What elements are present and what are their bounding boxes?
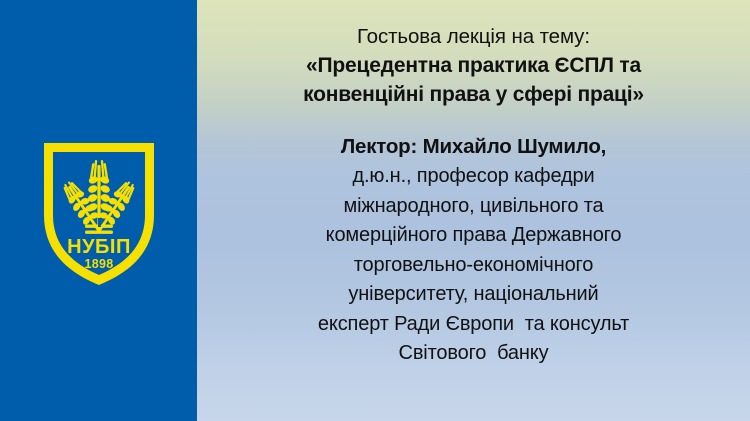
lecture-title-line-2: «Прецедентна практика ЄСПЛ та bbox=[221, 51, 726, 80]
lecturer-description-line: Світового банку bbox=[221, 339, 726, 369]
left-brand-panel: НУБІП 1898 bbox=[0, 0, 197, 421]
nubip-shield-svg: НУБІП 1898 bbox=[44, 143, 154, 285]
lecturer-description-line: університету, національний bbox=[221, 280, 726, 310]
lecturer-description-line: д.ю.н., професор кафедри bbox=[221, 162, 726, 192]
lecturer-description-line: торговельно-економічного bbox=[221, 251, 726, 281]
lecture-title-line-1: Гостьова лекція на тему: bbox=[221, 22, 726, 51]
lecturer-block: Лектор: Михайло Шумило, д.ю.н., професор… bbox=[221, 132, 726, 369]
lecturer-description-line: міжнародного, цивільного та bbox=[221, 192, 726, 222]
logo-year: 1898 bbox=[84, 257, 113, 271]
slide-content: Гостьова лекція на тему: «Прецедентна пр… bbox=[197, 0, 750, 421]
lecturer-description-line: експерт Ради Європи та консульт bbox=[221, 310, 726, 340]
lecture-title-line-3: конвенційні права у сфері праці» bbox=[221, 80, 726, 109]
lecture-title-block: Гостьова лекція на тему: «Прецедентна пр… bbox=[221, 22, 726, 109]
logo-acronym: НУБІП bbox=[67, 236, 131, 258]
nubip-shield-logo: НУБІП 1898 bbox=[44, 143, 154, 285]
lecturer-name: Лектор: Михайло Шумило, bbox=[221, 132, 726, 162]
presentation-slide: НУБІП 1898 Гостьова лекція на тему: «Пре… bbox=[0, 0, 750, 421]
lecturer-description-line: комерційного права Державного bbox=[221, 221, 726, 251]
